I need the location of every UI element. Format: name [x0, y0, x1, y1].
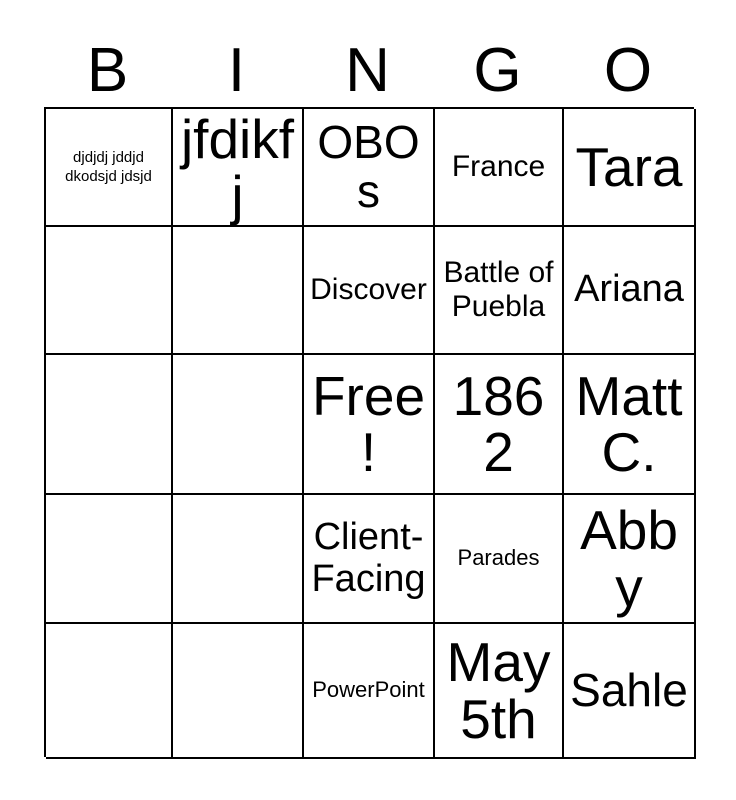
bingo-cell-label [49, 424, 168, 425]
bingo-header-letter-o: O [562, 40, 694, 102]
bingo-cell-label: Sahle [567, 666, 691, 715]
bingo-cell-label [49, 690, 168, 691]
bingo-cell-label: Parades [438, 546, 559, 570]
bingo-cell-label: May 5th [438, 634, 559, 746]
bingo-cell-g5[interactable]: May 5th [435, 624, 564, 759]
bingo-cell-o5[interactable]: Sahle [564, 624, 696, 759]
bingo-cell-n2[interactable]: Discover [304, 227, 435, 355]
bingo-header-row: B I N G O [44, 30, 694, 102]
bingo-cell-label: 1862 [438, 368, 559, 480]
bingo-cell-n1[interactable]: OBOs [304, 109, 435, 227]
bingo-cell-label [49, 558, 168, 559]
bingo-cell-g4[interactable]: Parades [435, 495, 564, 624]
bingo-cell-o4[interactable]: Abby [564, 495, 696, 624]
bingo-cell-label: OBOs [307, 118, 430, 216]
bingo-cell-o3[interactable]: Matt C. [564, 355, 696, 495]
bingo-cell-label [176, 424, 299, 425]
bingo-cell-b3[interactable] [46, 355, 173, 495]
bingo-cell-label: Abby [567, 502, 691, 614]
bingo-cell-n5[interactable]: PowerPoint [304, 624, 435, 759]
bingo-header-letter-n: N [302, 40, 433, 102]
bingo-header-letter-i: I [171, 40, 302, 102]
bingo-cell-n4[interactable]: Client-Facing [304, 495, 435, 624]
bingo-grid: djdjdj jddjd dkodsjd jdsjdjfdikfjOBOsFra… [44, 107, 694, 757]
bingo-cell-i4[interactable] [173, 495, 304, 624]
bingo-cell-label [176, 690, 299, 691]
bingo-cell-b1[interactable]: djdjdj jddjd dkodsjd jdsjd [46, 109, 173, 227]
bingo-cell-label: jfdikfj [176, 111, 299, 223]
bingo-cell-label: Tara [567, 139, 691, 195]
bingo-cell-label [176, 558, 299, 559]
bingo-cell-g2[interactable]: Battle of Puebla [435, 227, 564, 355]
bingo-cell-label: Free! [307, 368, 430, 480]
bingo-cell-i1[interactable]: jfdikfj [173, 109, 304, 227]
bingo-cell-label: PowerPoint [307, 678, 430, 702]
bingo-cell-i2[interactable] [173, 227, 304, 355]
bingo-cell-label: Client-Facing [307, 517, 430, 601]
bingo-cell-g1[interactable]: France [435, 109, 564, 227]
bingo-cell-n3[interactable]: Free! [304, 355, 435, 495]
bingo-cell-label [176, 290, 299, 291]
bingo-cell-label: Matt C. [567, 368, 691, 480]
bingo-cell-label: djdjdj jddjd dkodsjd jdsjd [49, 148, 168, 187]
bingo-cell-b5[interactable] [46, 624, 173, 759]
bingo-cell-i5[interactable] [173, 624, 304, 759]
bingo-cell-o1[interactable]: Tara [564, 109, 696, 227]
bingo-header-letter-g: G [433, 40, 562, 102]
bingo-cell-b2[interactable] [46, 227, 173, 355]
bingo-cell-label: Ariana [567, 269, 691, 311]
bingo-cell-label: France [438, 150, 559, 184]
bingo-cell-b4[interactable] [46, 495, 173, 624]
bingo-cell-label: Battle of Puebla [438, 256, 559, 323]
bingo-cell-g3[interactable]: 1862 [435, 355, 564, 495]
bingo-cell-o2[interactable]: Ariana [564, 227, 696, 355]
bingo-cell-label [49, 290, 168, 291]
bingo-cell-i3[interactable] [173, 355, 304, 495]
bingo-header-letter-b: B [44, 40, 171, 102]
bingo-card: B I N G O djdjdj jddjd dkodsjd jdsjdjfdi… [0, 0, 736, 800]
bingo-cell-label: Discover [307, 273, 430, 307]
